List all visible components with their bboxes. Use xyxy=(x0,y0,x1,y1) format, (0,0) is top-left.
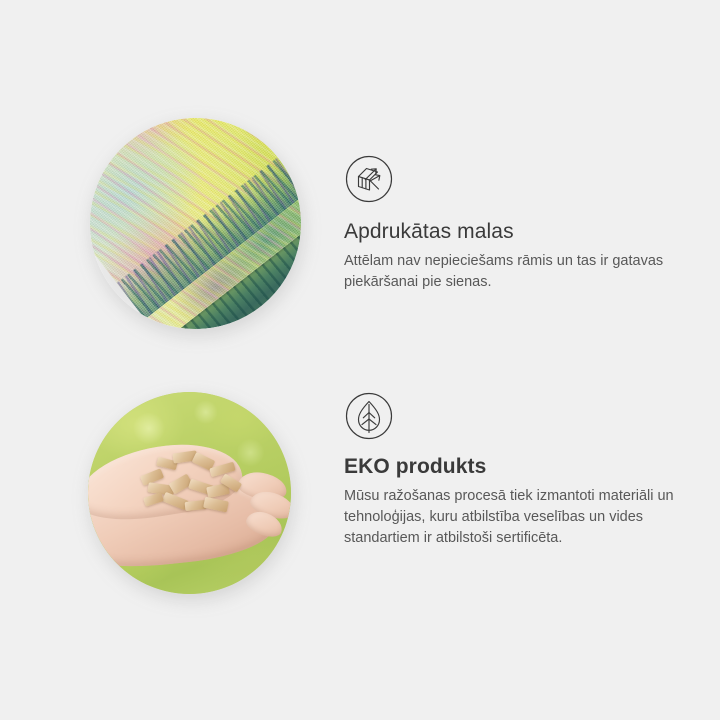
feature-description-eko-product: Mūsu ražošanas procesā tiek izmantoti ma… xyxy=(344,480,684,549)
feature-printed-edges: Apdrukātas malas Attēlam nav nepieciešam… xyxy=(0,110,720,340)
wood-chip xyxy=(203,497,228,512)
feature-title-printed-edges: Apdrukātas malas xyxy=(344,203,694,245)
wrapped-canvas-edge-icon xyxy=(345,155,393,203)
eko-photo-inner xyxy=(88,392,291,594)
wood-chip xyxy=(143,492,164,507)
hands-holding-wood-chips-photo xyxy=(88,392,291,594)
feature-eko-product: EKO produkts Mūsu ražošanas procesā tiek… xyxy=(0,384,720,599)
product-feature-panel: Apdrukātas malas Attēlam nav nepieciešam… xyxy=(0,0,720,720)
canvas-print-corner-photo xyxy=(90,118,301,329)
wood-chip-pile xyxy=(137,449,255,526)
feature-title-eko-product: EKO produkts xyxy=(344,440,694,480)
eko-product-text-column: EKO produkts Mūsu ražošanas procesā tiek… xyxy=(344,384,694,549)
leaf-icon xyxy=(345,392,393,440)
canvas-photo-inner xyxy=(90,118,301,329)
printed-edges-text-column: Apdrukātas malas Attēlam nav nepieciešam… xyxy=(344,110,694,293)
feature-description-printed-edges: Attēlam nav nepieciešams rāmis un tas ir… xyxy=(344,245,684,293)
